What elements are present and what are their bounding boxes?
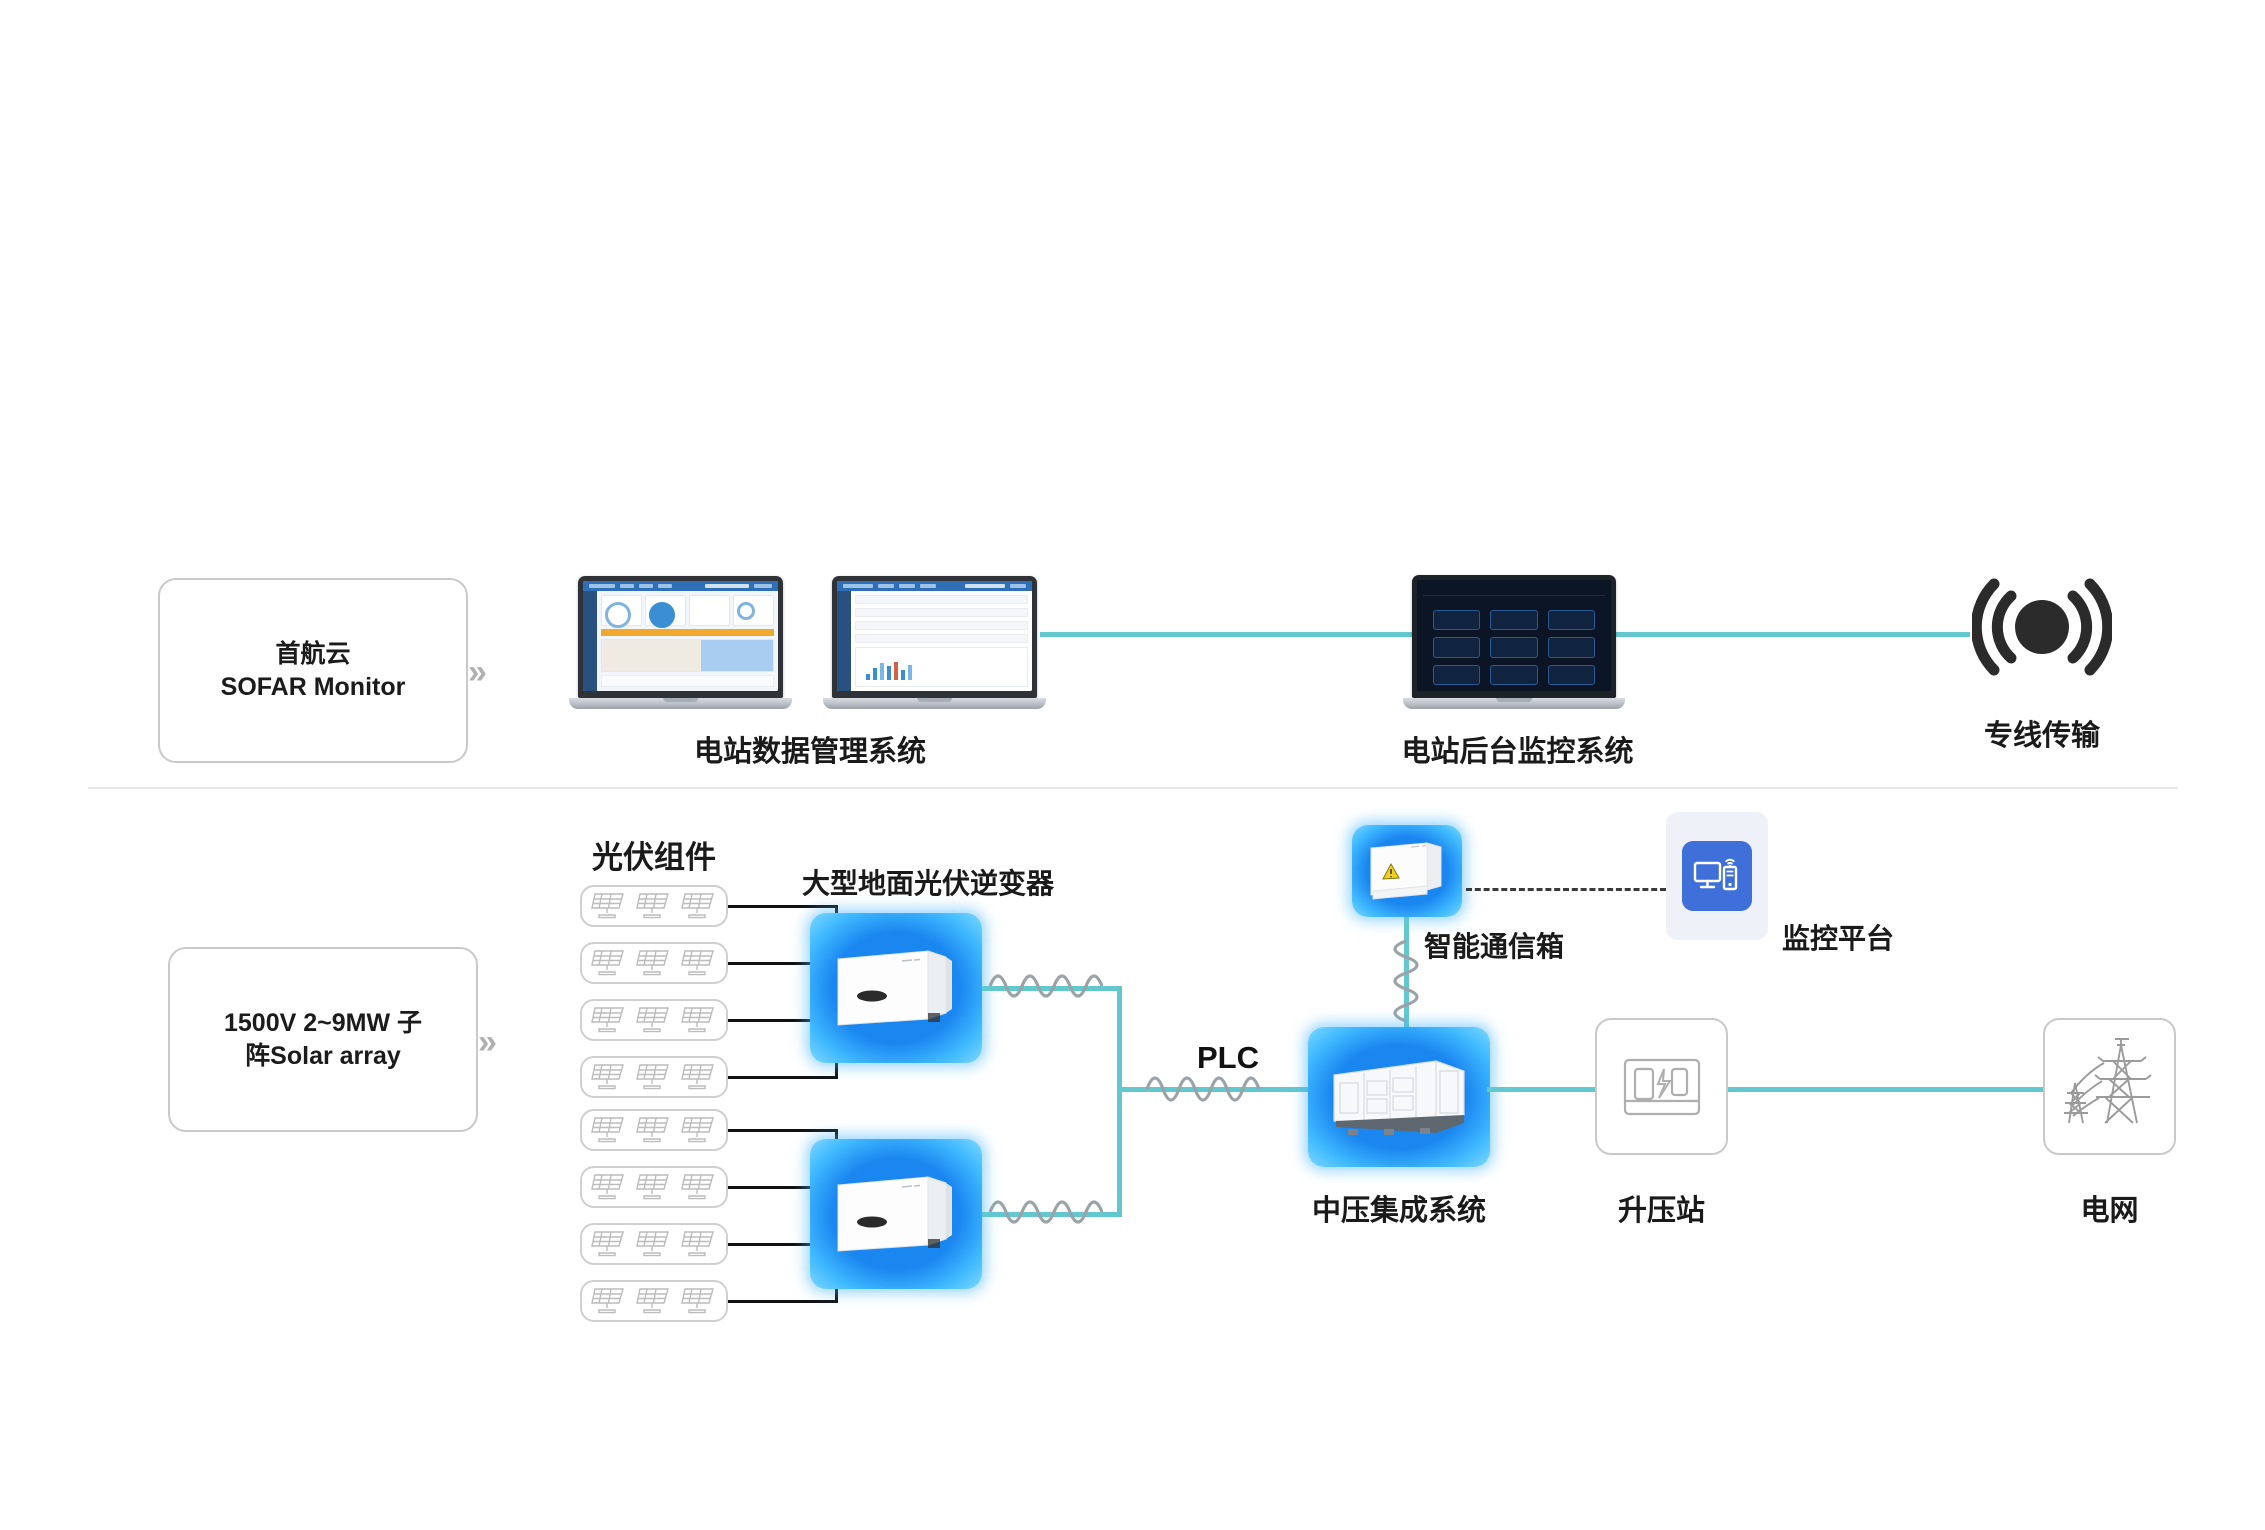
- solar-panel-icon: [636, 1286, 672, 1316]
- inverter-tile-lower[interactable]: [810, 1139, 982, 1289]
- laptop-data-management-right[interactable]: [832, 576, 1042, 716]
- pv-group-box[interactable]: [580, 1223, 728, 1265]
- caption-dedicated-line-transmission: 专线传输: [1962, 712, 2122, 754]
- solar-panel-icon: [681, 891, 717, 921]
- caption-power-grid: 电网: [2043, 1187, 2176, 1229]
- connector-line-backend-to-wireless: [1615, 632, 1970, 637]
- solar-panel-icon: [591, 1229, 627, 1259]
- screen-map: [601, 639, 774, 672]
- chevron-right-icon-bottom: »: [478, 1025, 491, 1059]
- backend-tile[interactable]: [1490, 665, 1537, 685]
- harness-line: [728, 1300, 838, 1303]
- solar-panel-icon: [681, 948, 717, 978]
- solar-panel-icon: [591, 1172, 627, 1202]
- connector-booster-to-grid: [1725, 1087, 2075, 1092]
- laptop-data-management-left[interactable]: [578, 576, 788, 716]
- pv-group-box[interactable]: [580, 1166, 728, 1208]
- screen-report-table: [837, 581, 1032, 691]
- solar-panel-icon: [636, 1172, 672, 1202]
- backend-tile[interactable]: [1433, 665, 1480, 685]
- screen-backend-monitoring: [1417, 580, 1611, 691]
- backend-tile-grid: [1423, 602, 1605, 685]
- backend-tile[interactable]: [1433, 610, 1480, 630]
- sofar-monitor-label: 首航云 SOFAR Monitor: [221, 638, 406, 704]
- caption-booster-station: 升压站: [1595, 1187, 1728, 1229]
- solar-panel-icon: [591, 1115, 627, 1145]
- dedicated-line-transmission-group[interactable]: [1972, 572, 2112, 682]
- solar-array-box[interactable]: 1500V 2~9MW 子 阵Solar array: [168, 947, 478, 1132]
- chevron-right-icon-top: »: [468, 655, 481, 689]
- inverter-tile-upper[interactable]: [810, 913, 982, 1063]
- backend-tile[interactable]: [1490, 610, 1537, 630]
- connector-line-cloud-to-backend: [1040, 632, 1415, 637]
- monitor-workstation-wifi-icon: [1692, 854, 1742, 898]
- solar-array-label: 1500V 2~9MW 子 阵Solar array: [224, 1007, 422, 1073]
- solar-panel-icon: [591, 1005, 627, 1035]
- solar-panel-icon: [681, 1115, 717, 1145]
- pv-group-box[interactable]: [580, 1056, 728, 1098]
- screen-alert-bar: [601, 629, 774, 635]
- plc-waveform-inverter-upper: [988, 962, 1116, 1010]
- label-pv-modules: 光伏组件: [592, 832, 716, 877]
- harness-line: [728, 905, 838, 908]
- transmission-tower-icon: [2059, 1037, 2161, 1137]
- pv-group-box[interactable]: [580, 1109, 728, 1151]
- backend-tile[interactable]: [1548, 637, 1595, 657]
- inverter-device-image: [832, 945, 960, 1031]
- solar-panel-icon: [591, 1062, 627, 1092]
- plc-waveform-inverter-lower: [988, 1188, 1116, 1236]
- pv-group-box[interactable]: [580, 885, 728, 927]
- pv-group-box[interactable]: [580, 1280, 728, 1322]
- booster-station-tile[interactable]: [1595, 1018, 1728, 1155]
- pv-group-box[interactable]: [580, 942, 728, 984]
- wireless-broadcast-icon: [1972, 572, 2112, 682]
- backend-tile[interactable]: [1490, 637, 1537, 657]
- section-divider: [88, 787, 2178, 789]
- solar-panel-icon: [591, 891, 627, 921]
- communication-box-image: [1365, 838, 1449, 904]
- inverter-device-image: [832, 1171, 960, 1257]
- monitoring-platform-icon-bg: [1682, 841, 1752, 911]
- plc-waveform-vertical: [1382, 938, 1430, 1034]
- connector-mv-to-booster: [1487, 1087, 1597, 1092]
- dashed-connector-comm-to-platform: [1466, 888, 1666, 891]
- solar-panel-icon: [591, 1286, 627, 1316]
- solar-panel-icon: [636, 1005, 672, 1035]
- screen-data-management: [583, 581, 778, 691]
- solar-panel-icon: [636, 891, 672, 921]
- harness-line: [728, 1076, 838, 1079]
- pv-group-box[interactable]: [580, 999, 728, 1041]
- solar-panel-icon: [681, 1062, 717, 1092]
- screen-sidebar: [583, 591, 597, 691]
- caption-data-management-system: 电站数据管理系统: [578, 728, 1042, 770]
- diagram-canvas: 首航云 SOFAR Monitor »: [0, 0, 2265, 1530]
- solar-panel-icon: [636, 1229, 672, 1259]
- connector-inverter-bus-vertical: [1117, 986, 1122, 1217]
- backend-tile[interactable]: [1433, 637, 1480, 657]
- screen-topbar: [583, 581, 778, 591]
- power-grid-tile[interactable]: [2043, 1018, 2176, 1155]
- caption-mv-integrated-system: 中压集成系统: [1308, 1187, 1490, 1229]
- booster-cabinet-icon: [1620, 1052, 1704, 1122]
- caption-smart-communication-box: 智能通信箱: [1424, 925, 1564, 965]
- monitoring-platform-tile[interactable]: [1666, 812, 1768, 940]
- solar-panel-icon: [681, 1229, 717, 1259]
- mv-container-image: [1324, 1049, 1474, 1145]
- solar-panel-icon: [681, 1172, 717, 1202]
- screen-bar-chart: [855, 647, 1028, 687]
- solar-panel-icon: [681, 1005, 717, 1035]
- harness-line: [728, 1129, 838, 1132]
- caption-monitoring-platform: 监控平台: [1782, 917, 1894, 957]
- backend-tile[interactable]: [1548, 665, 1595, 685]
- solar-panel-icon: [591, 948, 627, 978]
- mv-integrated-system-tile[interactable]: [1308, 1027, 1490, 1167]
- smart-communication-box-tile[interactable]: [1352, 825, 1462, 917]
- label-plc: PLC: [1197, 1040, 1259, 1076]
- label-large-ground-pv-inverter: 大型地面光伏逆变器: [802, 862, 1054, 902]
- laptop-backend-monitoring[interactable]: [1412, 575, 1622, 715]
- solar-panel-icon: [636, 1062, 672, 1092]
- sofar-monitor-box[interactable]: 首航云 SOFAR Monitor: [158, 578, 468, 763]
- backend-tile[interactable]: [1548, 610, 1595, 630]
- caption-backend-monitoring-system: 电站后台监控系统: [1330, 728, 1705, 770]
- solar-panel-icon: [636, 1115, 672, 1145]
- solar-panel-icon: [636, 948, 672, 978]
- solar-panel-icon: [681, 1286, 717, 1316]
